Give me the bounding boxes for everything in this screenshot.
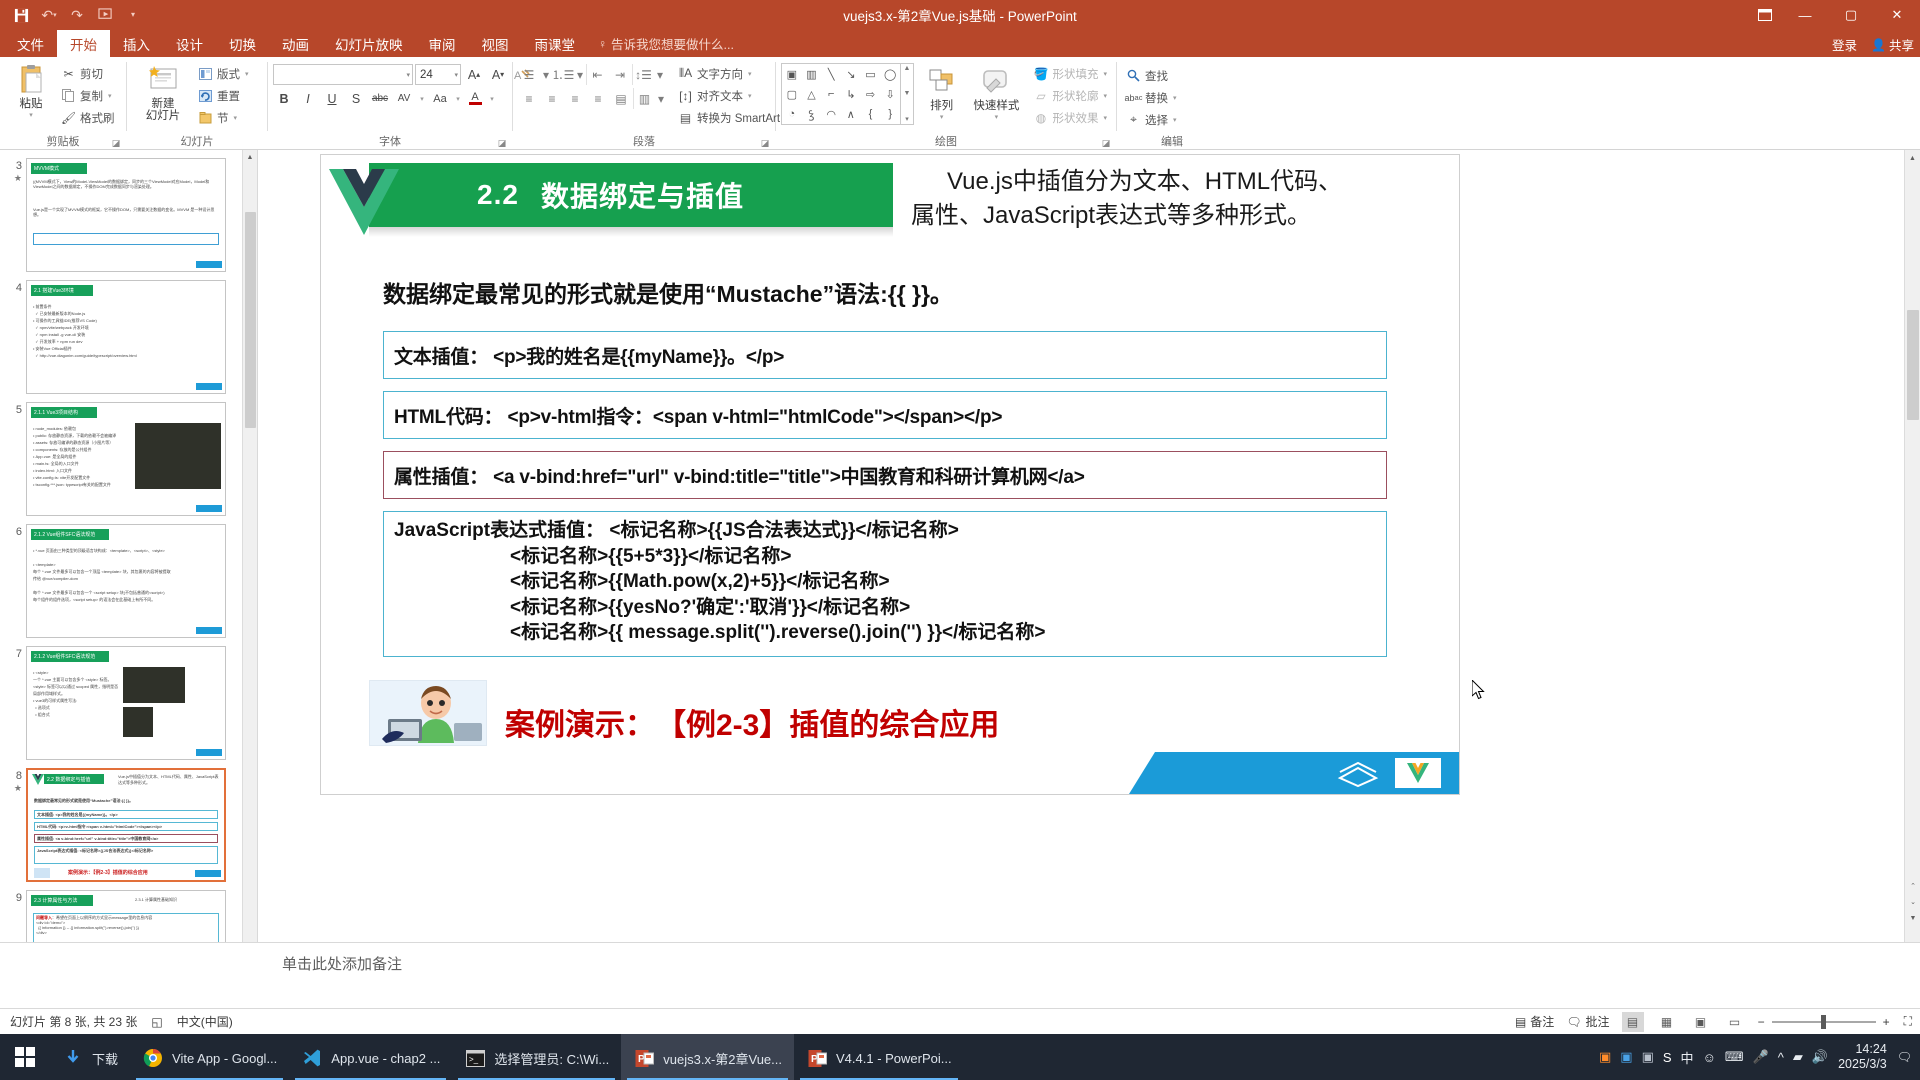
thumbnail-title: 2.1.2 Vue组件SFC语法规范 [31, 651, 109, 662]
decrease-indent-button[interactable]: ⇤ [586, 64, 608, 85]
tab-rainclassroom[interactable]: 雨课堂 [522, 30, 589, 57]
window-title: vuejs3.x-第2章Vue.js基础 - PowerPoint [0, 5, 1920, 25]
group-label-clipboard: 剪贴板 ◪ [0, 135, 126, 150]
ribbon-tabs: 文件 开始 插入 设计 切换 动画 幻灯片放映 审阅 视图 雨课堂 ♀ 告诉我您… [0, 30, 1920, 57]
text-direction-icon: ⦀A [678, 66, 693, 81]
text-direction-dropdown-arrow[interactable]: ▾ [748, 70, 752, 78]
thumbnail-preview[interactable]: 2.1.2 Vue组件SFC语法规范 • *.vue 页面由三种类型的顶级语言块… [26, 524, 226, 638]
section-button[interactable]: 节 ▾ [194, 107, 253, 128]
windows-taskbar: 下载 Vite App - Googl... App.vue - chap2 .… [0, 1034, 1920, 1080]
thumbnail-preview[interactable]: MVVM模式 ((MVVM模式下，View的Model-ViewModel的数据… [26, 158, 226, 272]
thumbnail-preview[interactable]: 2.1.2 Vue组件SFC语法规范 • <style> 一个 *.vue 主要… [26, 646, 226, 760]
ime-mode-icon[interactable]: ☺ [1703, 1050, 1716, 1065]
group-label-slides: 幻灯片 [127, 135, 267, 150]
thumbnail-number: 5 [4, 402, 22, 416]
notes-icon: ▤ [1515, 1015, 1526, 1029]
convert-to-smartart-button[interactable]: ▤ 转换为 SmartArt ▾ [674, 107, 793, 128]
text-shadow-button[interactable]: S [345, 88, 367, 109]
layout-icon [198, 66, 213, 81]
tab-design[interactable]: 设计 [163, 30, 216, 57]
copy-icon [61, 88, 76, 103]
shape-rounded-rect-icon[interactable]: ▢ [782, 84, 802, 104]
vue-logo-icon [321, 163, 407, 249]
thumbnail-title: 2.2 数据绑定与插值 [44, 774, 104, 784]
paste-icon [16, 63, 46, 97]
group-label-drawing: 绘图 ◪ [776, 135, 1116, 150]
slide-thumbnail-pane[interactable]: 3★ MVVM模式 ((MVVM模式下，View的Model-ViewModel… [0, 150, 258, 1008]
format-painter-button[interactable]: 🖌 格式刷 [57, 107, 119, 128]
text-interpolation-label: 文本插值 [394, 347, 469, 368]
thumbnail-image [123, 707, 153, 737]
thumbnail-item[interactable]: 5 2.1.1 Vue3项目结构 • node_modules: 依赖包 • p… [0, 398, 257, 520]
shape-curve-icon[interactable]: ∧ [841, 104, 861, 124]
html-interpolation-line: HTML代码： <p>v-html指令：<span v-html="htmlCo… [394, 402, 1002, 429]
account-area: 登录 👤共享 [1832, 35, 1914, 54]
italic-button[interactable]: I [297, 88, 319, 109]
thumbnail-image [135, 423, 221, 489]
shape-fill-dropdown-arrow[interactable]: ▾ [1103, 70, 1107, 78]
demo-example: 【例2-3】 [671, 709, 789, 742]
shape-elbow-connector-icon[interactable]: ⌐ [821, 84, 841, 104]
shape-right-arrow-icon[interactable]: ⇨ [861, 84, 881, 104]
taskbar-item-terminal[interactable]: >_ 选择管理员: C:\Wi... [452, 1034, 621, 1080]
taskbar-clock[interactable]: 14:24 2025/3/3 [1838, 1042, 1887, 1072]
cut-button[interactable]: ✂ 剪切 [57, 63, 119, 84]
shapes-grid[interactable]: ▣ ▥ ╲ ↘ ▭ ◯ ▢ △ ⌐ ↳ ⇨ ⇩ ◔ ꝣ ◠ [781, 63, 901, 125]
close-button[interactable]: ✕ [1874, 0, 1920, 30]
align-text-dropdown-arrow[interactable]: ▾ [748, 92, 752, 100]
line-spacing-button[interactable]: ↕☰ [632, 64, 654, 85]
arrange-label: 排列 [930, 100, 953, 112]
title-bar: ↶▾ ↷ ▾ vuejs3.x-第2章Vue.js基础 - PowerPoint… [0, 0, 1920, 30]
font-name-input[interactable]: ▾ [273, 64, 413, 85]
layout-button[interactable]: 版式 ▾ [194, 63, 253, 84]
notification-icon[interactable]: 🗨 [1897, 1050, 1912, 1064]
slide-title-banner[interactable]: 2.2 数据绑定与插值 [369, 163, 893, 227]
ribbon-group-paragraph: ☰ ▾ ⒈☰ ▾ ⇤ ⇥ ↕☰ ▾ ≡ ≡ ≡ ≡ ▤ [513, 57, 775, 150]
shape-elbow-arrow-icon[interactable]: ↳ [841, 84, 861, 104]
smartart-icon: ▤ [678, 110, 693, 125]
replace-button[interactable]: abac 替换 ▾ [1122, 87, 1181, 108]
window-controls: — ▢ ✕ [1748, 0, 1920, 30]
thumbnail-footer [196, 749, 222, 756]
animation-star-icon: ★ [14, 782, 22, 794]
shape-vertical-textbox-icon[interactable]: ▥ [802, 64, 822, 84]
next-slide-icon[interactable]: ⌄ [1905, 894, 1920, 910]
zoom-control[interactable]: − + ⛶ [1758, 1014, 1912, 1029]
section-dropdown-arrow[interactable]: ▾ [234, 114, 238, 122]
line-spacing-dropdown-arrow[interactable]: ▾ [655, 64, 665, 85]
fit-slide-icon[interactable]: ⛶ [1904, 1014, 1912, 1029]
paste-button[interactable]: 粘贴 ▾ [5, 61, 57, 119]
shape-arc-icon[interactable]: ◠ [821, 104, 841, 124]
shape-outline-button[interactable]: ▱ 形状轮廓 ▾ [1029, 85, 1111, 106]
slideshow-icon[interactable]: ▭ [1724, 1012, 1746, 1032]
thumbnail-scroll-thumb[interactable] [245, 212, 256, 428]
slide-editing-pane: 2.2 数据绑定与插值 Vue.js中插值分为文本、HTML代码、 属性、Jav… [258, 150, 1920, 1008]
font-size-dropdown-arrow[interactable]: ▾ [454, 71, 458, 79]
thumbnail-preview[interactable]: 2.1.1 Vue3项目结构 • node_modules: 依赖包 • pub… [26, 402, 226, 516]
share-button[interactable]: 👤共享 [1871, 35, 1914, 54]
increase-indent-button[interactable]: ⇥ [609, 64, 631, 85]
shapes-scroll-down-icon[interactable]: ▼ [904, 90, 911, 97]
ribbon-group-font: ▾ 24▾ A▴ A▾ A B I U [268, 57, 512, 150]
copy-dropdown-arrow[interactable]: ▾ [108, 92, 112, 100]
clipboard-dialog-launcher[interactable]: ◪ [110, 136, 122, 148]
svg-text:>_: >_ [469, 1055, 479, 1064]
attribute-interpolation-label: 属性插值 [394, 467, 469, 488]
thumbnail-scroll-up-icon[interactable]: ▲ [243, 150, 257, 165]
normal-view-icon[interactable]: ▤ [1622, 1012, 1644, 1032]
bold-button[interactable]: B [273, 88, 295, 109]
javascript-expression-box[interactable]: JavaScript表达式插值： <标记名称>{{JS合法表达式}}</标记名称… [383, 511, 1387, 657]
arrange-button[interactable]: 排列 ▾ [920, 63, 963, 121]
thumbnail-footer [196, 627, 222, 634]
thumbnail-preview[interactable]: 2.2 数据绑定与插值 Vue.js中插值分为文本、HTML代码、属性、Java… [26, 768, 226, 882]
bullets-dropdown-arrow[interactable]: ▾ [541, 64, 551, 85]
windows-start-icon[interactable] [0, 1034, 50, 1080]
replace-icon: abac [1126, 90, 1141, 105]
font-color-dropdown-arrow[interactable]: ▾ [487, 88, 497, 109]
thumbnail-title: 2.3 计算属性与方法 [31, 895, 93, 906]
slide-scroll-up-icon[interactable]: ▲ [1905, 150, 1920, 166]
save-icon[interactable] [8, 3, 34, 27]
comments-button[interactable]: 🗨批注 [1566, 1013, 1609, 1030]
powerpoint-icon: P [633, 1047, 655, 1069]
network-icon[interactable]: ▰ [1793, 1049, 1803, 1065]
shape-right-brace-icon[interactable]: } [880, 104, 900, 124]
thumbnail-item[interactable]: 3★ MVVM模式 ((MVVM模式下，View的Model-ViewModel… [0, 154, 257, 276]
decrease-font-size-button[interactable]: A▾ [487, 64, 509, 85]
clock-date: 2025/3/3 [1838, 1057, 1887, 1072]
underline-button[interactable]: U [321, 88, 343, 109]
slide-canvas[interactable]: 2.2 数据绑定与插值 Vue.js中插值分为文本、HTML代码、 属性、Jav… [320, 154, 1460, 795]
notes-button[interactable]: ▤备注 [1515, 1013, 1554, 1030]
arrange-dropdown-arrow[interactable]: ▾ [940, 113, 944, 121]
shapes-gallery[interactable]: ▣ ▥ ╲ ↘ ▭ ◯ ▢ △ ⌐ ↳ ⇨ ⇩ ◔ ꝣ ◠ [781, 63, 914, 125]
paste-label: 粘贴 [20, 98, 43, 110]
tab-animations[interactable]: 动画 [269, 30, 322, 57]
accessibility-icon[interactable]: ◱ [151, 1015, 162, 1029]
app-blue-icon[interactable]: ▣ [1620, 1049, 1632, 1065]
book-logo-icon [1335, 758, 1381, 788]
new-slide-label: 新建幻灯片 [146, 98, 181, 122]
slide-scrollbar[interactable]: ▲ ⌃ ⌄ ▼ [1904, 150, 1920, 942]
taskbar-item-powerpoint-2[interactable]: P V4.4.1 - PowerPoi... [794, 1034, 964, 1080]
taskbar-item-chrome[interactable]: Vite App - Googl... [130, 1034, 289, 1080]
attribute-interpolation-content: ： <a v-bind:href="url" v-bind:title="tit… [469, 467, 1084, 488]
group-label-paragraph: 段落 ◪ [513, 135, 775, 150]
drawing-dialog-launcher[interactable]: ◪ [1100, 136, 1112, 148]
scissors-icon: ✂ [61, 66, 76, 81]
shape-effects-icon: ◍ [1033, 110, 1048, 125]
select-icon: ⌖ [1126, 112, 1141, 127]
attribute-interpolation-line: 属性插值： <a v-bind:href="url" v-bind:title=… [394, 462, 1085, 489]
keyboard-icon[interactable]: ⌨ [1725, 1049, 1744, 1065]
slide-sorter-icon[interactable]: ▦ [1656, 1012, 1678, 1032]
group-label-font: 字体 ◪ [268, 135, 512, 150]
font-name-dropdown-arrow[interactable]: ▾ [406, 71, 410, 79]
quick-styles-button[interactable]: 快速样式 ▾ [969, 63, 1023, 121]
align-text-icon: [↕] [678, 88, 693, 103]
comment-icon: 🗨 [1566, 1015, 1581, 1029]
shapes-gallery-scrollbar[interactable]: ▲ ▼ ▾ [901, 63, 914, 125]
bullets-button[interactable]: ☰ [518, 64, 540, 85]
thumbnail-item[interactable]: 4 2.1 搭建Vue3环境 • 前置条件 ✓ 已安装最新版本的Node.js … [0, 276, 257, 398]
copy-button[interactable]: 复制 ▾ [57, 85, 119, 106]
signin-button[interactable]: 登录 [1832, 35, 1857, 54]
thumbnail-title: 2.1 搭建Vue3环境 [31, 285, 93, 296]
tab-transitions[interactable]: 切换 [216, 30, 269, 57]
select-button[interactable]: ⌖ 选择 ▾ [1122, 109, 1181, 130]
thumbnail-footer [196, 505, 222, 512]
quick-styles-icon [980, 65, 1012, 99]
lightbulb-icon: ♀ [598, 37, 607, 51]
terminal-icon: >_ [464, 1047, 486, 1069]
shape-left-brace-icon[interactable]: { [861, 104, 881, 124]
zoom-knob[interactable] [1821, 1015, 1826, 1029]
find-button[interactable]: 查找 [1122, 65, 1181, 86]
shapes-more-icon[interactable]: ▾ [905, 115, 909, 123]
redo-icon[interactable]: ↷ [64, 3, 90, 27]
select-dropdown-arrow[interactable]: ▾ [1173, 116, 1177, 124]
app-grey-icon[interactable]: ▣ [1642, 1049, 1654, 1065]
js-line-2: <标记名称>{{5+5*3}}</标记名称> [394, 544, 1376, 570]
work-area: 3★ MVVM模式 ((MVVM模式下，View的Model-ViewModel… [0, 150, 1920, 1008]
shape-freeform-icon[interactable]: ꝣ [802, 104, 822, 124]
numbering-dropdown-arrow[interactable]: ▾ [575, 64, 585, 85]
minimize-button[interactable]: — [1782, 0, 1828, 30]
shape-fill-icon: 🪣 [1033, 66, 1048, 81]
search-icon [1126, 68, 1141, 83]
zoom-slider[interactable] [1772, 1015, 1876, 1029]
vscode-icon [301, 1047, 323, 1069]
paste-dropdown-arrow[interactable]: ▾ [29, 111, 33, 119]
ime-icon[interactable]: 中 [1681, 1048, 1694, 1067]
thumbnail-subtitle: 2.3.1 计算属性基础知识 [135, 897, 177, 902]
tab-home[interactable]: 开始 [57, 30, 110, 57]
thumbnail-title: MVVM模式 [31, 163, 87, 174]
banner-shadow [369, 227, 893, 237]
strikethrough-button[interactable]: abc [369, 88, 391, 109]
shape-effects-button[interactable]: ◍ 形状效果 ▾ [1029, 107, 1111, 128]
undo-icon[interactable]: ↶▾ [36, 3, 62, 27]
customize-qat-icon[interactable]: ▾ [120, 3, 146, 27]
font-color-button[interactable]: A [465, 88, 485, 109]
section-icon [198, 110, 213, 125]
columns-dropdown-arrow[interactable]: ▾ [656, 88, 666, 109]
app-orange-icon[interactable]: ▣ [1599, 1049, 1611, 1065]
change-case-button[interactable]: Aa [429, 88, 451, 109]
tab-slideshow[interactable]: 幻灯片放映 [322, 30, 416, 57]
ribbon-group-clipboard: 粘贴 ▾ ✂ 剪切 复制 ▾ � [0, 57, 126, 150]
powerpoint-icon: P [806, 1047, 828, 1069]
group-label-editing: 编辑 [1117, 135, 1227, 150]
replace-dropdown-arrow[interactable]: ▾ [1173, 94, 1177, 102]
character-spacing-button[interactable]: AV [393, 88, 415, 109]
tell-me-placeholder: 告诉我您想要做什么... [611, 34, 734, 53]
language-label[interactable]: 中文(中国) [177, 1013, 233, 1030]
slide-count-label: 幻灯片 第 8 张, 共 23 张 [10, 1013, 137, 1030]
shape-triangle-icon[interactable]: △ [802, 84, 822, 104]
demo-illustration[interactable] [369, 680, 487, 746]
slide-section-title: 数据绑定与插值 [541, 175, 744, 215]
taskbar-item-powerpoint-active[interactable]: P vuejs3.x-第2章Vue... [621, 1034, 794, 1080]
shape-line-icon[interactable]: ╲ [821, 64, 841, 84]
shape-outline-icon: ▱ [1033, 88, 1048, 103]
thumbnail-number: 4 [4, 280, 22, 294]
text-direction-button[interactable]: ⦀A 文字方向 ▾ [674, 63, 793, 84]
previous-slide-icon[interactable]: ⌃ [1905, 878, 1920, 894]
align-left-button[interactable]: ≡ [518, 88, 540, 109]
slide-lead-text[interactable]: 数据绑定最常见的形式就是使用“Mustache”语法:{{ }}。 [383, 275, 953, 309]
attribute-interpolation-box[interactable]: 属性插值： <a v-bind:href="url" v-bind:title=… [383, 451, 1387, 499]
html-interpolation-content: ： <p>v-html指令：<span v-html="htmlCode"></… [484, 407, 1003, 428]
font-size-input[interactable]: 24▾ [415, 64, 461, 85]
numbering-button[interactable]: ⒈☰ [552, 64, 574, 85]
shape-down-arrow-icon[interactable]: ⇩ [880, 84, 900, 104]
paragraph-dialog-launcher[interactable]: ◪ [759, 136, 771, 148]
layout-dropdown-arrow[interactable]: ▾ [245, 70, 249, 78]
html-interpolation-label: HTML代码 [394, 407, 484, 428]
shape-rectangle-icon[interactable]: ▭ [861, 64, 881, 84]
demo-suffix: 插值的综合应用 [789, 709, 999, 742]
shape-pie-icon[interactable]: ◔ [782, 104, 802, 124]
shape-textbox-icon[interactable]: ▣ [782, 64, 802, 84]
taskbar-item-vscode[interactable]: App.vue - chap2 ... [289, 1034, 452, 1080]
notes-pane[interactable]: 单击此处添加备注 [0, 942, 1920, 1008]
thumbnail-number: 6 [4, 524, 22, 538]
thumbnail-number: 9 [4, 890, 22, 904]
quick-access-toolbar: ↶▾ ↷ ▾ [0, 3, 146, 27]
thumbnail-footer [195, 870, 221, 877]
ribbon: 粘贴 ▾ ✂ 剪切 复制 ▾ � [0, 57, 1920, 150]
animation-star-icon: ★ [14, 172, 22, 184]
ribbon-group-drawing: ▣ ▥ ╲ ↘ ▭ ◯ ▢ △ ⌐ ↳ ⇨ ⇩ ◔ ꝣ ◠ [776, 57, 1116, 150]
thumbnail-number: 3★ [4, 158, 22, 184]
thumbnail-number: 7 [4, 646, 22, 660]
slide-footer-banner [1129, 752, 1459, 794]
text-interpolation-content: ： <p>我的姓名是{{myName}}。</p> [469, 347, 784, 368]
align-center-button[interactable]: ≡ [541, 88, 563, 109]
thumbnail-image [123, 667, 185, 703]
ribbon-display-options-icon[interactable] [1748, 0, 1782, 30]
chrome-icon [142, 1047, 164, 1069]
quick-styles-label: 快速样式 [973, 100, 1019, 112]
shape-outline-dropdown-arrow[interactable]: ▾ [1103, 92, 1107, 100]
quick-styles-dropdown-arrow[interactable]: ▾ [995, 113, 999, 121]
system-tray: ▣ ▣ ▣ S 中 ☺ ⌨ 🎤 ^ ▰ 🔊 14:24 2025/3/3 🗨 [1599, 1034, 1920, 1080]
microphone-icon[interactable]: 🎤 [1753, 1049, 1769, 1065]
align-right-button[interactable]: ≡ [564, 88, 586, 109]
thumbnail-scrollbar[interactable]: ▲ ▼ [242, 150, 257, 1008]
shape-effects-dropdown-arrow[interactable]: ▾ [1103, 114, 1107, 122]
arrange-icon [927, 65, 957, 99]
shape-oval-icon[interactable]: ◯ [880, 64, 900, 84]
new-slide-icon [147, 63, 179, 97]
align-text-button[interactable]: [↕] 对齐文本 ▾ [674, 85, 793, 106]
reading-view-icon[interactable]: ▣ [1690, 1012, 1712, 1032]
status-bar: 幻灯片 第 8 张, 共 23 张 ◱ 中文(中国) ▤备注 🗨批注 ▤ ▦ ▣… [0, 1008, 1920, 1034]
volume-icon[interactable]: 🔊 [1812, 1049, 1828, 1065]
demo-title[interactable]: 案例演示：【例2-3】插值的综合应用 [505, 700, 999, 744]
share-icon: 👤 [1871, 38, 1886, 52]
zoom-out-button[interactable]: − [1758, 1015, 1765, 1029]
js-line-5: <标记名称>{{ message.split('').reverse().joi… [394, 620, 1376, 646]
text-interpolation-line: 文本插值： <p>我的姓名是{{myName}}。</p> [394, 342, 784, 369]
thumbnail-footer [196, 261, 222, 268]
slide-scroll-thumb[interactable] [1907, 310, 1919, 420]
html-interpolation-box[interactable]: HTML代码： <p>v-html指令：<span v-html="htmlCo… [383, 391, 1387, 439]
thumbnail-number: 8★ [4, 768, 22, 794]
vue-mark-icon [1395, 758, 1441, 788]
slide-header-note[interactable]: Vue.js中插值分为文本、HTML代码、 属性、JavaScript表达式等多… [911, 165, 1451, 233]
notes-placeholder: 单击此处添加备注 [282, 953, 402, 974]
thumbnail-item[interactable]: 6 2.1.2 Vue组件SFC语法规范 • *.vue 页面由三种类型的顶级语… [0, 520, 257, 642]
format-painter-icon: 🖌 [61, 110, 76, 125]
slide-scroll-down-icon[interactable]: ▼ [1905, 910, 1920, 926]
tab-view[interactable]: 视图 [469, 30, 522, 57]
thumbnail-footer [196, 383, 222, 390]
js-line-3: <标记名称>{{Math.pow(x,2)+5}}</标记名称> [394, 569, 1376, 595]
download-icon [62, 1047, 84, 1069]
change-case-dropdown-arrow[interactable]: ▾ [453, 88, 463, 109]
justify-button[interactable]: ≡ [587, 88, 609, 109]
taskbar-item-downloads[interactable]: 下载 [50, 1034, 130, 1080]
tray-expand-icon[interactable]: ^ [1778, 1050, 1784, 1065]
tab-review[interactable]: 审阅 [416, 30, 469, 57]
header-note-line-1: Vue.js中插值分为文本、HTML代码、 [911, 165, 1451, 199]
reset-button[interactable]: 重置 [194, 85, 253, 106]
shape-fill-button[interactable]: 🪣 形状填充 ▾ [1029, 63, 1111, 84]
demo-prefix: 案例演示： [505, 709, 655, 742]
thumbnail-item-selected[interactable]: 8★ 2.2 数据绑定与插值 Vue.js中插值分为文本、HTML代码、属性、J… [0, 764, 257, 886]
sogou-icon[interactable]: S [1663, 1050, 1672, 1065]
ribbon-group-slides: 新建幻灯片 版式 ▾ 重置 [127, 57, 267, 150]
shapes-scroll-up-icon[interactable]: ▲ [904, 65, 911, 72]
reset-icon [198, 88, 213, 103]
thumbnail-preview[interactable]: 2.3 计算属性与方法 2.3.1 计算属性基础知识 问题导入：希望在页面上以倒… [26, 890, 226, 950]
ribbon-group-editing: 查找 abac 替换 ▾ ⌖ 选择 ▾ 编辑 [1117, 57, 1227, 150]
start-slideshow-icon[interactable] [92, 3, 118, 27]
thumbnail-title: 2.1.2 Vue组件SFC语法规范 [31, 529, 109, 540]
js-line-1: JavaScript表达式插值： <标记名称>{{JS合法表达式}}</标记名称… [394, 518, 1376, 544]
slide-section-number: 2.2 [477, 179, 519, 211]
font-dialog-launcher[interactable]: ◪ [496, 136, 508, 148]
thumbnail-preview[interactable]: 2.1 搭建Vue3环境 • 前置条件 ✓ 已安装最新版本的Node.js • … [26, 280, 226, 394]
header-note-line-2: 属性、JavaScript表达式等多种形式。 [911, 202, 1311, 229]
js-line-4: <标记名称>{{yesNo?'确定':'取消'}}</标记名称> [394, 595, 1376, 621]
zoom-in-button[interactable]: + [1883, 1015, 1890, 1029]
distribute-button[interactable]: ▤ [610, 88, 632, 109]
thumbnail-item[interactable]: 7 2.1.2 Vue组件SFC语法规范 • <style> 一个 *.vue … [0, 642, 257, 764]
columns-button[interactable]: ▥ [633, 88, 655, 109]
thumbnail-title: 2.1.1 Vue3项目结构 [31, 407, 97, 418]
tell-me-box[interactable]: ♀ 告诉我您想要做什么... [588, 30, 744, 57]
text-interpolation-box[interactable]: 文本插值： <p>我的姓名是{{myName}}。</p> [383, 331, 1387, 379]
increase-font-size-button[interactable]: A▴ [463, 64, 485, 85]
maximize-button[interactable]: ▢ [1828, 0, 1874, 30]
character-spacing-dropdown-arrow[interactable]: ▾ [417, 88, 427, 109]
powerpoint-window: ↶▾ ↷ ▾ vuejs3.x-第2章Vue.js基础 - PowerPoint… [0, 0, 1920, 1080]
tab-file[interactable]: 文件 [4, 30, 57, 57]
new-slide-button[interactable]: 新建幻灯片 [132, 61, 194, 122]
tab-insert[interactable]: 插入 [110, 30, 163, 57]
clock-time: 14:24 [1855, 1042, 1886, 1057]
shape-arrow-icon[interactable]: ↘ [841, 64, 861, 84]
